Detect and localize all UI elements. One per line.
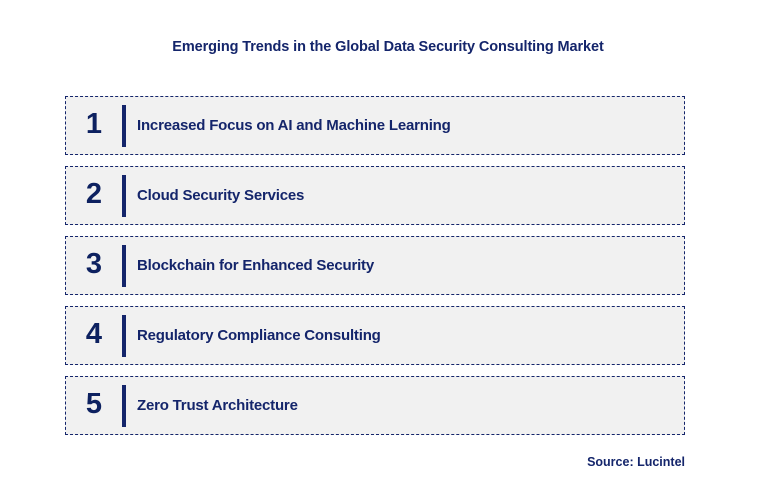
source-attribution: Source: Lucintel [587, 455, 685, 469]
trends-infographic: Emerging Trends in the Global Data Secur… [0, 0, 776, 481]
vertical-divider [122, 315, 126, 357]
trend-rank-number: 1 [66, 110, 122, 141]
trend-rank-number: 3 [66, 250, 122, 281]
trend-label: Increased Focus on AI and Machine Learni… [137, 117, 684, 134]
trend-label: Cloud Security Services [137, 187, 684, 204]
vertical-divider [122, 385, 126, 427]
trend-label: Regulatory Compliance Consulting [137, 327, 684, 344]
trend-rank-number: 4 [66, 320, 122, 351]
list-item[interactable]: 4 Regulatory Compliance Consulting [65, 306, 685, 365]
trend-rank-number: 2 [66, 180, 122, 211]
list-item[interactable]: 2 Cloud Security Services [65, 166, 685, 225]
vertical-divider [122, 245, 126, 287]
list-item[interactable]: 3 Blockchain for Enhanced Security [65, 236, 685, 295]
page-title: Emerging Trends in the Global Data Secur… [0, 39, 776, 55]
trend-rank-number: 5 [66, 390, 122, 421]
list-item[interactable]: 5 Zero Trust Architecture [65, 376, 685, 435]
vertical-divider [122, 175, 126, 217]
trend-label: Blockchain for Enhanced Security [137, 257, 684, 274]
list-item[interactable]: 1 Increased Focus on AI and Machine Lear… [65, 96, 685, 155]
trend-list: 1 Increased Focus on AI and Machine Lear… [65, 96, 685, 435]
trend-label: Zero Trust Architecture [137, 397, 684, 414]
vertical-divider [122, 105, 126, 147]
